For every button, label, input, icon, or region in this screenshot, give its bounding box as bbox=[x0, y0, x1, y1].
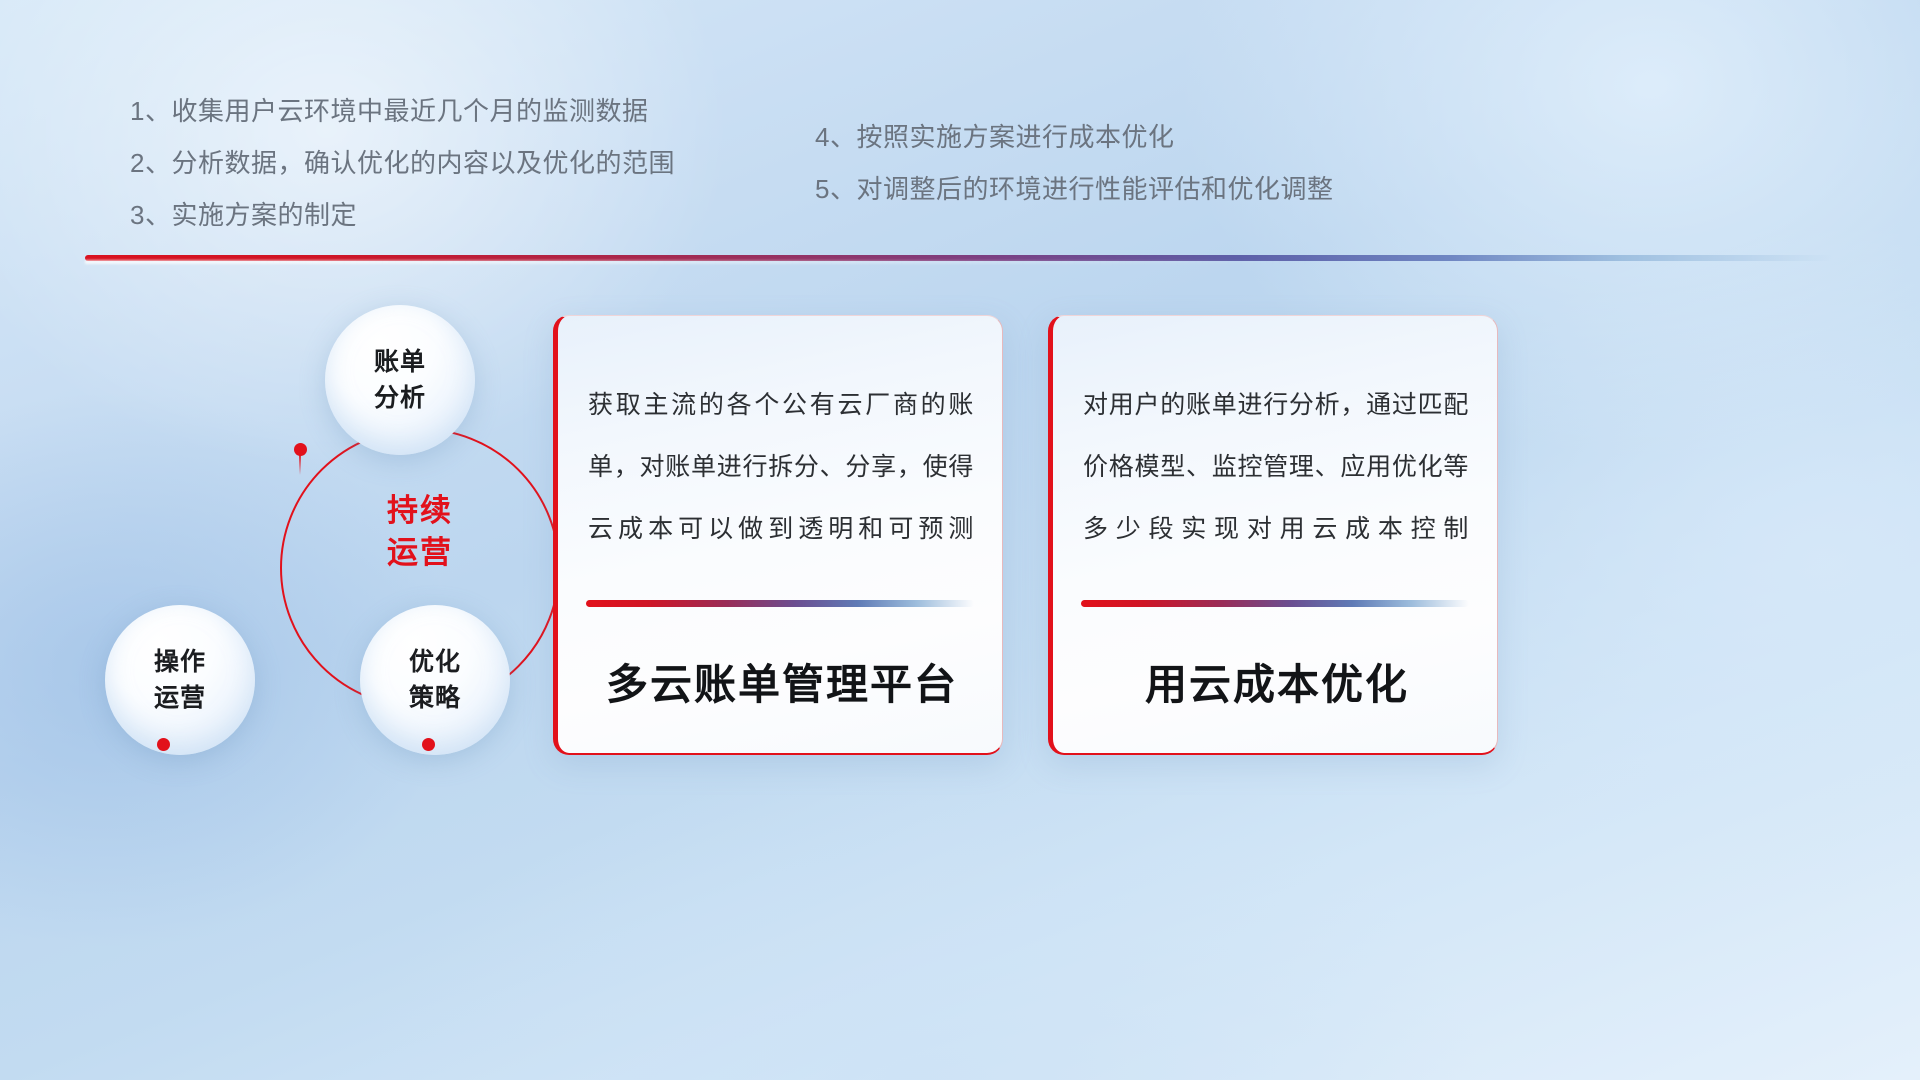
card-gradient-divider bbox=[586, 600, 974, 607]
bubble-label-line-1: 优化 bbox=[409, 644, 461, 680]
bubble-label-line-1: 账单 bbox=[374, 344, 426, 380]
diagram-bubble-operation[interactable]: 操作 运营 bbox=[105, 605, 255, 755]
card-title: 多云账单管理平台 bbox=[586, 654, 978, 716]
diagram-center-label: 持续 运营 bbox=[280, 490, 560, 574]
step-item-2: 2、分析数据，确认优化的内容以及优化的范围 bbox=[130, 137, 675, 189]
step-item-4: 4、按照实施方案进行成本优化 bbox=[815, 111, 1333, 163]
bubble-label-line-2: 运营 bbox=[154, 680, 206, 716]
card-body-text: 对用户的账单进行分析，通过匹配价格模型、监控管理、应用优化等多少段实现对用云成本… bbox=[1083, 374, 1469, 560]
card-body-text: 获取主流的各个公有云厂商的账单，对账单进行拆分、分享，使得云成本可以做到透明和可… bbox=[588, 374, 974, 560]
continuous-operation-diagram: 持续 运营 账单 分析 操作 运营 优化 策略 bbox=[95, 295, 555, 775]
step-item-1: 1、收集用户云环境中最近几个月的监测数据 bbox=[130, 85, 675, 137]
steps-column-left: 1、收集用户云环境中最近几个月的监测数据 2、分析数据，确认优化的内容以及优化的… bbox=[130, 85, 675, 241]
step-item-3: 3、实施方案的制定 bbox=[130, 189, 675, 241]
card-cloud-cost-optimization[interactable]: 对用户的账单进行分析，通过匹配价格模型、监控管理、应用优化等多少段实现对用云成本… bbox=[1048, 315, 1498, 755]
diagram-bubble-bill-analysis[interactable]: 账单 分析 bbox=[325, 305, 475, 455]
diagram-connector-top bbox=[299, 453, 301, 475]
bubble-label-line-1: 操作 bbox=[154, 644, 206, 680]
diagram-center-line-2: 运营 bbox=[280, 532, 560, 574]
diagram-node-dot-top bbox=[294, 443, 307, 456]
card-gradient-divider bbox=[1081, 600, 1469, 607]
diagram-bubble-optimization-strategy[interactable]: 优化 策略 bbox=[360, 605, 510, 755]
bubble-label-line-2: 策略 bbox=[409, 680, 461, 716]
gradient-divider-rule bbox=[85, 255, 1833, 261]
bubble-label-line-2: 分析 bbox=[374, 380, 426, 416]
slide-canvas: 1、收集用户云环境中最近几个月的监测数据 2、分析数据，确认优化的内容以及优化的… bbox=[0, 0, 1920, 1080]
diagram-center-line-1: 持续 bbox=[280, 490, 560, 532]
card-multicloud-billing[interactable]: 获取主流的各个公有云厂商的账单，对账单进行拆分、分享，使得云成本可以做到透明和可… bbox=[553, 315, 1003, 755]
step-item-5: 5、对调整后的环境进行性能评估和优化调整 bbox=[815, 163, 1333, 215]
diagram-node-dot-left bbox=[157, 738, 170, 751]
card-title: 用云成本优化 bbox=[1081, 654, 1473, 716]
steps-column-right: 4、按照实施方案进行成本优化 5、对调整后的环境进行性能评估和优化调整 bbox=[815, 111, 1333, 215]
diagram-node-dot-right bbox=[422, 738, 435, 751]
